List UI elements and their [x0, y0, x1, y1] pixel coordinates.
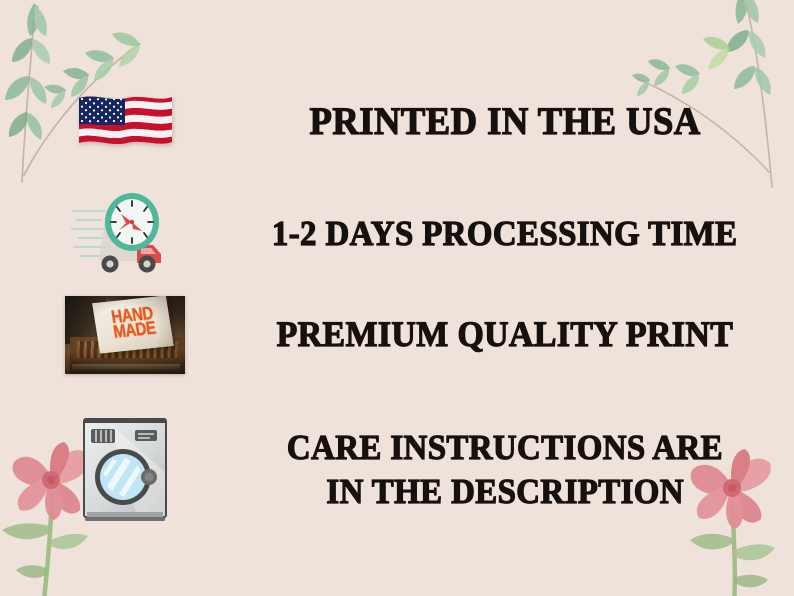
row-processing-time: 1-2 DAYS PROCESSING TIME [0, 182, 794, 287]
text-cell-care-instructions: CARE INSTRUCTIONS ARE IN THE DESCRIPTION [250, 430, 794, 510]
photo-vignette [65, 296, 185, 374]
row-printed-in-usa: PRINTED IN THE USA [0, 72, 794, 172]
icon-cell-screen-printing: HAND MADE [0, 296, 250, 374]
headline-premium-quality: PREMIUM QUALITY PRINT [277, 316, 734, 353]
text-cell-printed-in-usa: PRINTED IN THE USA [250, 102, 794, 143]
text-cell-premium-quality: PREMIUM QUALITY PRINT [250, 316, 794, 353]
fast-delivery-clock-icon [71, 189, 179, 281]
row-care-instructions: CARE INSTRUCTIONS ARE IN THE DESCRIPTION [0, 396, 794, 544]
headline-processing-time: 1-2 DAYS PROCESSING TIME [272, 216, 738, 252]
text-cell-processing-time: 1-2 DAYS PROCESSING TIME [250, 216, 794, 252]
icon-cell-fast-delivery [0, 189, 250, 281]
washing-machine-icon [79, 414, 171, 526]
headline-care-instructions-line-1: CARE INSTRUCTIONS ARE [287, 430, 723, 466]
headline-printed-in-usa: PRINTED IN THE USA [309, 102, 700, 143]
icon-cell-usa-flag [0, 92, 250, 152]
row-premium-quality: HAND MADE PREMIUM QUALITY PRINT [0, 286, 794, 384]
info-graphic-canvas: PRINTED IN THE USA [0, 0, 794, 596]
screen-printing-photo: HAND MADE [65, 296, 185, 374]
headline-care-instructions-line-2: IN THE DESCRIPTION [326, 474, 684, 510]
icon-cell-washing-machine [0, 414, 250, 526]
usa-flag-icon [77, 92, 174, 152]
